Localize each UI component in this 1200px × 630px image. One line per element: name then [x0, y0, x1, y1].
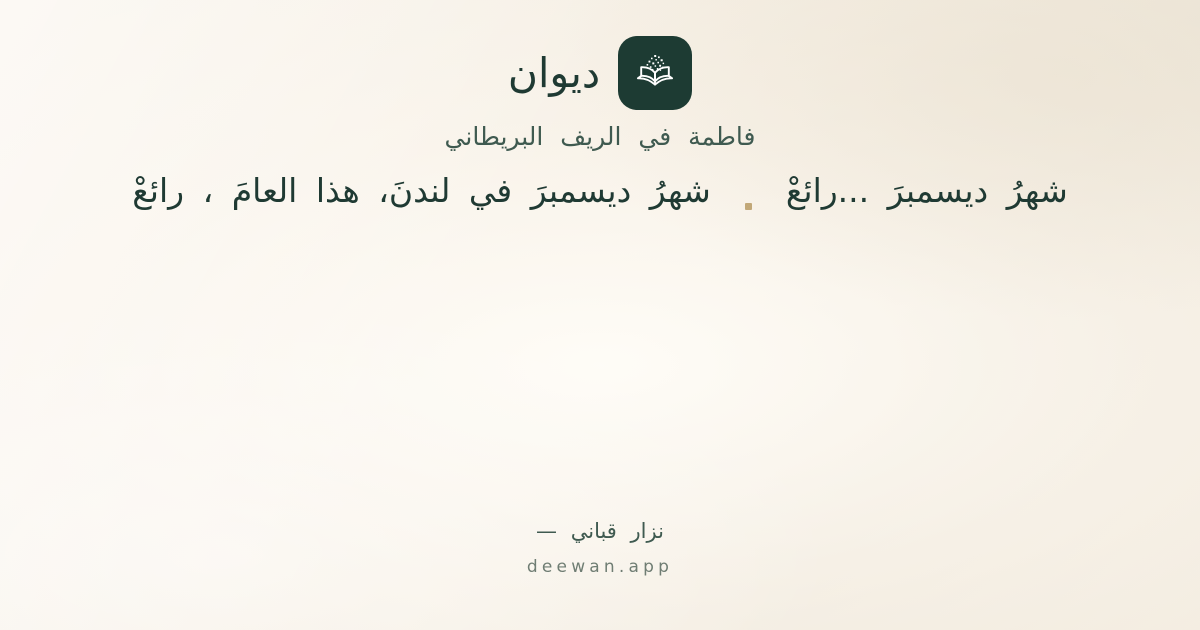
dot-separator-icon [745, 203, 752, 210]
poem-title: فاطمة في الريف البريطاني [0, 120, 1200, 154]
verse-line: شهرُ ديسمبرَ ...رائعْ شهرُ ديسمبرَ في لن… [0, 166, 1200, 216]
brand-header[interactable]: ديوان [0, 36, 1200, 110]
app-logo[interactable] [618, 36, 692, 110]
poet-attribution: نزار قباني — [0, 518, 1200, 545]
card-content: ديوان فاطمة في الريف البريطاني شهرُ ديسم… [0, 0, 1200, 630]
verse-first-hemistich: شهرُ ديسمبرَ ...رائعْ [786, 166, 1068, 216]
verse-second-hemistich: شهرُ ديسمبرَ في لندنَ، هذا العامَ ، رائع… [132, 166, 711, 216]
share-card: ديوان فاطمة في الريف البريطاني شهرُ ديسم… [0, 0, 1200, 630]
site-url[interactable]: deewan.app [0, 556, 1200, 578]
brand-name: ديوان [508, 53, 600, 94]
open-book-with-sparkles-icon [632, 50, 678, 96]
